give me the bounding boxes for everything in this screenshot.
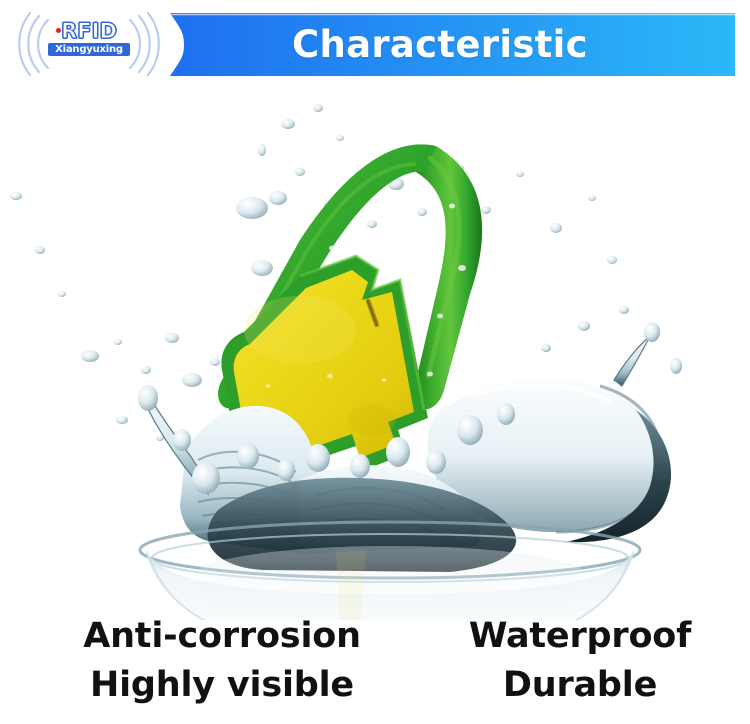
hero-image xyxy=(0,80,750,620)
feature-highly-visible: Highly visible xyxy=(62,661,382,710)
logo-wordmark: RFID Xiangyuxing xyxy=(48,20,130,68)
characteristic-product-slide: RFID Xiangyuxing Characteristic xyxy=(0,0,750,724)
banner-ribbon-shape xyxy=(170,13,735,76)
feature-list-right: Waterproof Durable xyxy=(430,612,730,710)
section-banner: Characteristic xyxy=(170,13,735,76)
feature-waterproof: Waterproof xyxy=(430,612,730,661)
feature-anti-corrosion: Anti-corrosion xyxy=(62,612,382,661)
product-in-water-illustration xyxy=(0,80,750,620)
feature-list-left: Anti-corrosion Highly visible xyxy=(62,612,382,710)
splash-reflection xyxy=(200,546,580,620)
logo-red-dot-icon xyxy=(56,28,61,33)
logo-company-text: Xiangyuxing xyxy=(48,43,130,56)
brand-logo: RFID Xiangyuxing xyxy=(8,8,168,80)
feature-durable: Durable xyxy=(430,661,730,710)
page-header: RFID Xiangyuxing Characteristic xyxy=(0,0,750,92)
